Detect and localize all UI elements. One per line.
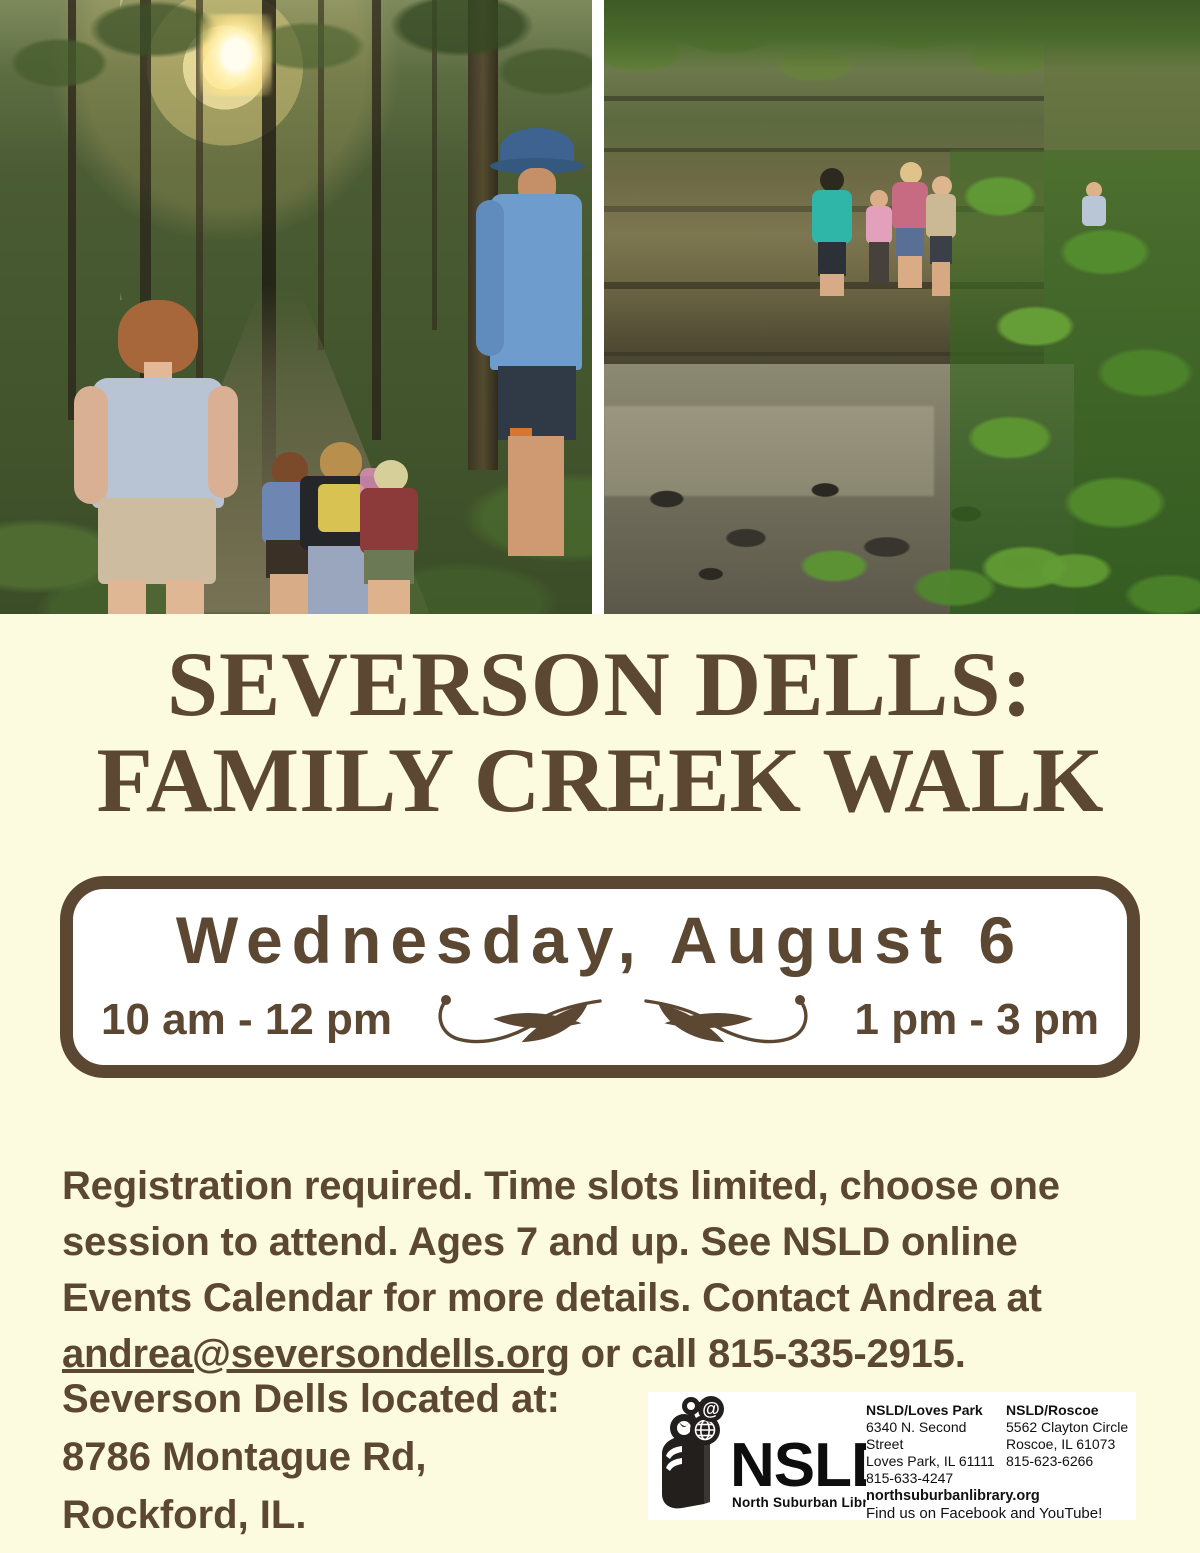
title-line-2: FAMILY CREEK WALK bbox=[0, 732, 1200, 828]
creek-visitor-distant bbox=[1082, 182, 1108, 246]
title-line-1: SEVERSON DELLS: bbox=[167, 633, 1033, 735]
branch-roscoe: NSLD/Roscoe 5562 Clayton Circle Roscoe, … bbox=[1006, 1402, 1128, 1487]
sun-flare bbox=[200, 14, 272, 96]
creek-visitor-teal bbox=[810, 168, 854, 296]
photo-divider bbox=[592, 0, 604, 614]
creek-visitor-tan bbox=[926, 176, 958, 296]
time-slot-afternoon: 1 pm - 3 pm bbox=[855, 995, 1100, 1045]
streamside-foliage-bottom bbox=[774, 494, 1200, 614]
nsld-contact-info: NSLD/Loves Park 6340 N. Second Street Lo… bbox=[866, 1392, 1136, 1523]
hiker-red-shirt bbox=[352, 460, 428, 614]
library-website[interactable]: northsuburbanlibrary.org bbox=[866, 1488, 1136, 1505]
hiker-blue-hat bbox=[474, 128, 582, 614]
branch-street: 6340 N. Second Street bbox=[866, 1419, 1006, 1453]
nsld-wordmark: NSLD bbox=[730, 1431, 866, 1500]
description-text-before-email: Registration required. Time slots limite… bbox=[62, 1164, 1060, 1320]
nsld-logo-block: @ NSLD North Suburban Library District N… bbox=[648, 1392, 1136, 1520]
nsld-tagline: North Suburban Library District bbox=[732, 1495, 866, 1510]
time-slot-morning: 10 am - 12 pm bbox=[101, 995, 392, 1045]
event-date: Wednesday, August 6 bbox=[73, 903, 1127, 977]
event-description: Registration required. Time slots limite… bbox=[62, 1158, 1142, 1382]
address-line-2: 8786 Montague Rd, bbox=[62, 1428, 662, 1486]
treetop-canopy bbox=[604, 0, 1200, 70]
branch-name: NSLD/Loves Park bbox=[866, 1402, 1006, 1419]
creek-visitor-pink bbox=[890, 162, 930, 288]
photo-band bbox=[0, 0, 1200, 614]
flourish-dot-left bbox=[441, 995, 451, 1005]
event-date-box: Wednesday, August 6 10 am - 12 pm 1 pm -… bbox=[60, 876, 1140, 1078]
branch-loves-park: NSLD/Loves Park 6340 N. Second Street Lo… bbox=[866, 1402, 1006, 1487]
social-media-note: Find us on Facebook and YouTube! bbox=[866, 1505, 1136, 1523]
sun-rays bbox=[120, 0, 480, 300]
branch-phone: 815-623-6266 bbox=[1006, 1453, 1128, 1470]
event-time-row: 10 am - 12 pm 1 pm - 3 pm bbox=[73, 985, 1127, 1055]
dells-creek-photo bbox=[604, 0, 1200, 614]
svg-text:@: @ bbox=[702, 1399, 720, 1419]
page-title: SEVERSON DELLS: FAMILY CREEK WALK bbox=[0, 636, 1200, 828]
branch-city: Roscoe, IL 61073 bbox=[1006, 1436, 1128, 1453]
branch-street: 5562 Clayton Circle bbox=[1006, 1419, 1128, 1436]
venue-address: Severson Dells located at: 8786 Montague… bbox=[62, 1370, 662, 1544]
forest-trail-hike-photo bbox=[0, 0, 592, 614]
branch-city: Loves Park, IL 61111 bbox=[866, 1453, 1006, 1470]
flourish-dot-right bbox=[795, 995, 805, 1005]
branch-phone: 815-633-4247 bbox=[866, 1470, 1006, 1487]
leaf-flourish-divider-icon bbox=[428, 989, 818, 1051]
address-line-1: Severson Dells located at: bbox=[62, 1370, 662, 1428]
nsld-book-logo-icon: @ NSLD North Suburban Library District bbox=[648, 1392, 866, 1520]
branch-columns: NSLD/Loves Park 6340 N. Second Street Lo… bbox=[866, 1402, 1136, 1487]
hiker-foreground bbox=[70, 300, 240, 614]
address-line-3: Rockford, IL. bbox=[62, 1486, 662, 1544]
branch-name: NSLD/Roscoe bbox=[1006, 1402, 1128, 1419]
